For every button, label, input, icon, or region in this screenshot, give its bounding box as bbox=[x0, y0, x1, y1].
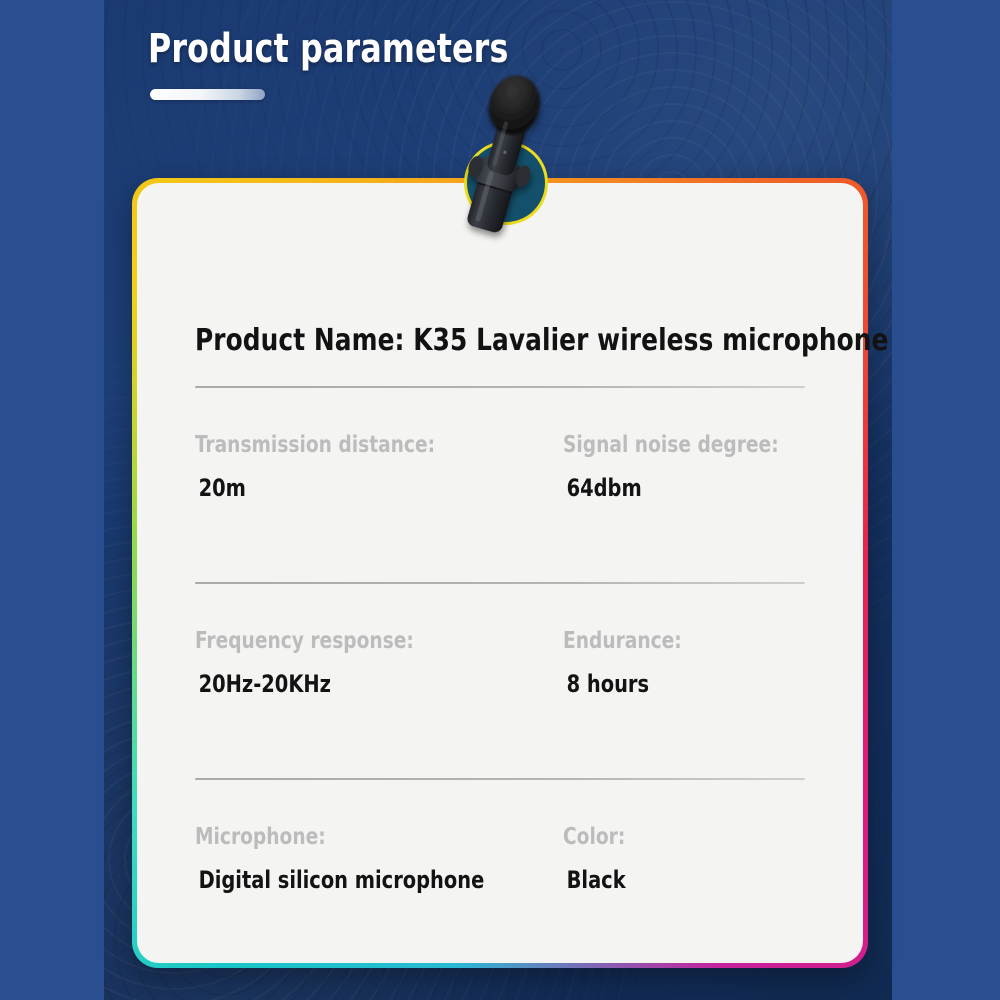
background-left-band bbox=[0, 0, 104, 1000]
spec-card: Product Name: K35 Lavalier wireless micr… bbox=[137, 183, 863, 963]
spec-label: Microphone: bbox=[195, 824, 526, 850]
spec-label: Frequency response: bbox=[195, 628, 526, 654]
spacer-2 bbox=[195, 698, 805, 750]
spec-value: Black bbox=[563, 866, 781, 894]
title-underline-bar bbox=[150, 89, 265, 100]
spec-label: Endurance: bbox=[563, 628, 781, 654]
spec-label: Color: bbox=[563, 824, 781, 850]
background-right-band bbox=[892, 0, 1000, 1000]
spec-frequency-response: Frequency response: 20Hz-20KHz bbox=[195, 584, 563, 698]
product-parameters-page: Product parameters Product Name: K35 Lav… bbox=[0, 0, 1000, 1000]
spec-value: Digital silicon microphone bbox=[195, 866, 526, 894]
spec-grid-row-3: Microphone: Digital silicon microphone C… bbox=[195, 780, 805, 894]
spec-label: Transmission distance: bbox=[195, 432, 526, 458]
spec-color: Color: Black bbox=[563, 780, 805, 894]
spec-grid-row-2: Frequency response: 20Hz-20KHz Endurance… bbox=[195, 584, 805, 698]
page-title: Product parameters bbox=[148, 26, 509, 72]
spec-value: 20m bbox=[195, 474, 526, 502]
spec-endurance: Endurance: 8 hours bbox=[563, 584, 805, 698]
spec-label: Signal noise degree: bbox=[563, 432, 781, 458]
spec-grid-row-1: Transmission distance: 20m Signal noise … bbox=[195, 388, 805, 502]
badge-ring bbox=[464, 141, 548, 225]
microphone-badge-circle bbox=[464, 141, 548, 225]
spec-microphone: Microphone: Digital silicon microphone bbox=[195, 780, 563, 894]
spec-value: 64dbm bbox=[563, 474, 781, 502]
spec-value: 8 hours bbox=[563, 670, 781, 698]
spacer-1 bbox=[195, 502, 805, 554]
spec-value: 20Hz-20KHz bbox=[195, 670, 526, 698]
spec-card-border: Product Name: K35 Lavalier wireless micr… bbox=[132, 178, 868, 968]
spec-transmission-distance: Transmission distance: 20m bbox=[195, 388, 563, 502]
product-name: Product Name: K35 Lavalier wireless micr… bbox=[195, 323, 756, 358]
spec-signal-noise-degree: Signal noise degree: 64dbm bbox=[563, 388, 805, 502]
